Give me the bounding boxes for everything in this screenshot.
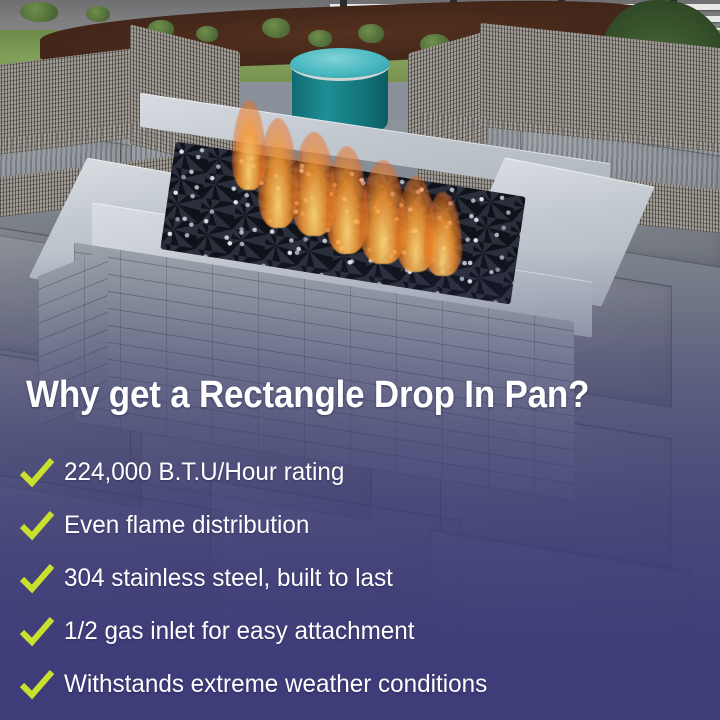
check-icon	[20, 511, 54, 541]
check-icon	[20, 617, 54, 647]
check-icon	[20, 564, 54, 594]
list-item: 224,000 B.T.U/Hour rating	[20, 446, 700, 499]
list-item-label: Even flame distribution	[64, 511, 309, 540]
check-icon	[20, 670, 54, 700]
feature-list: 224,000 B.T.U/Hour rating Even flame dis…	[20, 446, 700, 711]
check-icon	[20, 458, 54, 488]
list-item-label: Withstands extreme weather conditions	[64, 670, 487, 699]
list-item-label: 304 stainless steel, built to last	[64, 564, 393, 593]
text-content: Why get a Rectangle Drop In Pan? 224,000…	[0, 0, 720, 720]
list-item: Withstands extreme weather conditions	[20, 658, 700, 711]
list-item-label: 224,000 B.T.U/Hour rating	[64, 458, 344, 487]
page-title: Why get a Rectangle Drop In Pan?	[26, 374, 589, 417]
list-item: 304 stainless steel, built to last	[20, 552, 700, 605]
list-item: 1/2 gas inlet for easy attachment	[20, 605, 700, 658]
promo-graphic: Why get a Rectangle Drop In Pan? 224,000…	[0, 0, 720, 720]
list-item: Even flame distribution	[20, 499, 700, 552]
list-item-label: 1/2 gas inlet for easy attachment	[64, 617, 414, 646]
